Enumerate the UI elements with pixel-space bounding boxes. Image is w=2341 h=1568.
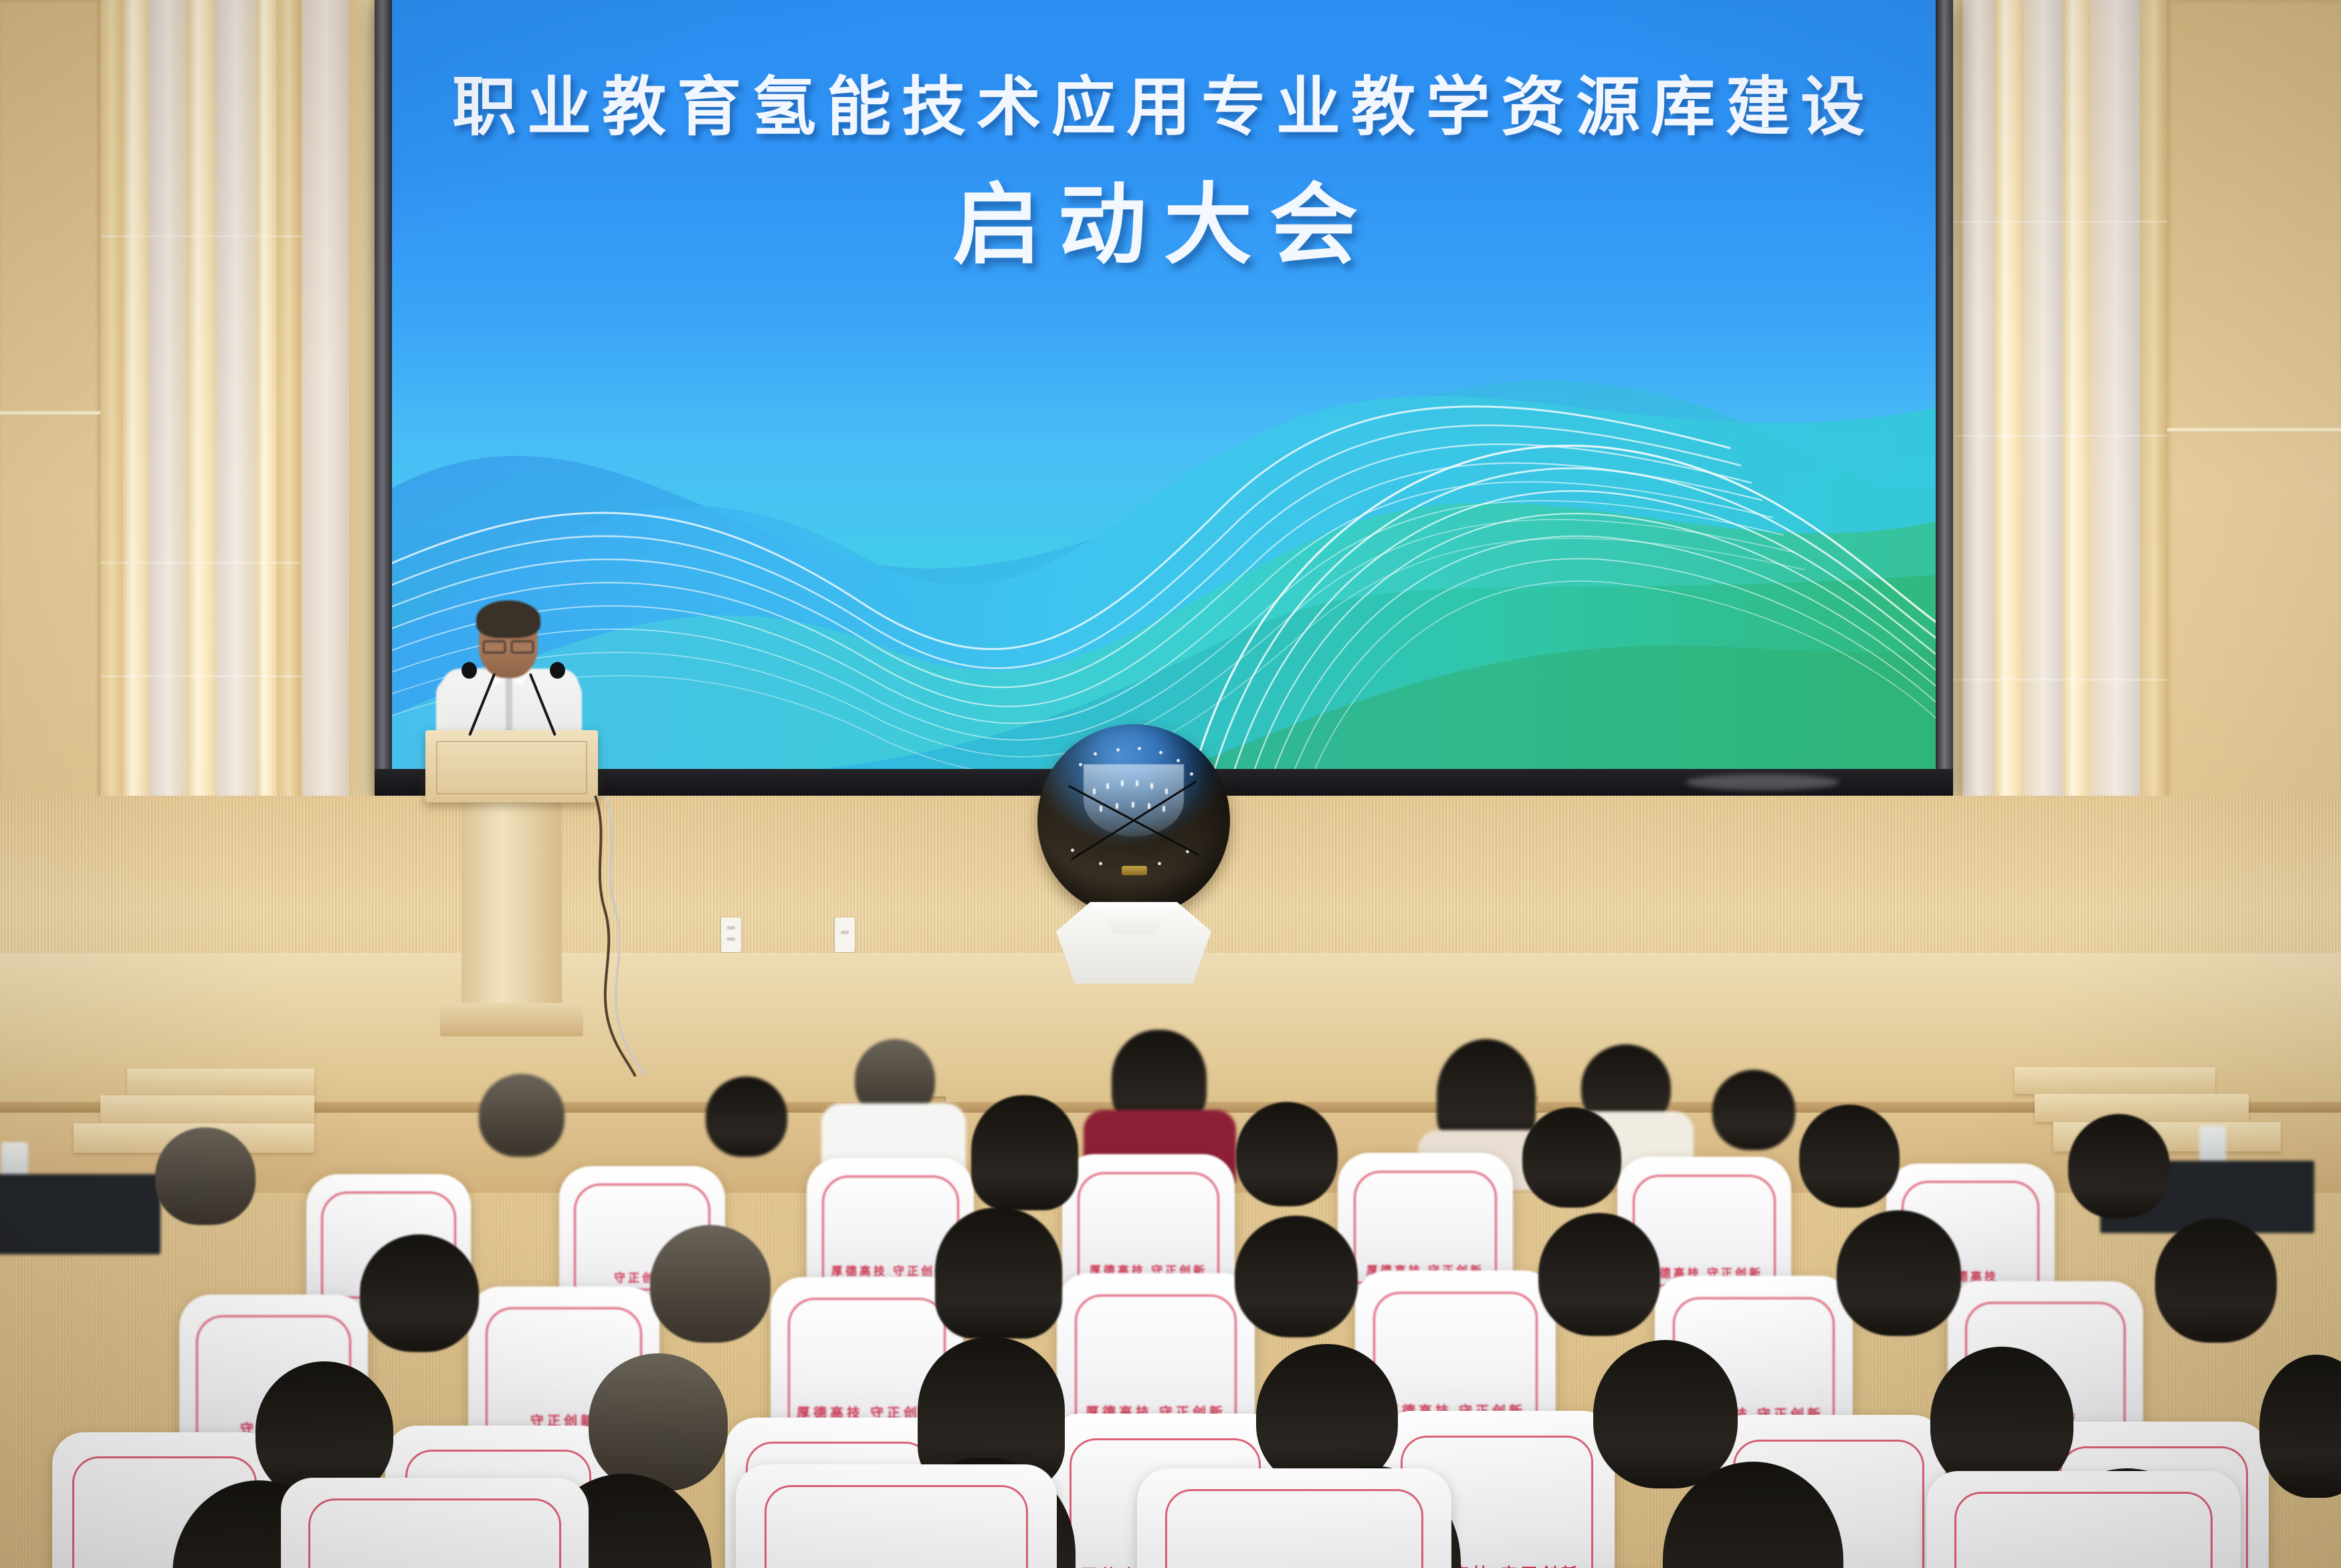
- attendee-head: [971, 1095, 1078, 1210]
- attendee-head: [2068, 1114, 2170, 1218]
- attendee-head: [1538, 1213, 1660, 1336]
- wave-graphic: [392, 288, 1936, 769]
- speaker-glasses: [483, 641, 534, 651]
- seat-foreground: [281, 1478, 589, 1568]
- seat-foreground: [736, 1464, 1057, 1568]
- seat-foreground: [1926, 1471, 2241, 1568]
- attendee-head: [1236, 1102, 1338, 1206]
- podium-desk: [425, 730, 598, 802]
- seat: 厚德高技 守正创新: [1062, 1154, 1235, 1292]
- screen-title: 职业教育氢能技术应用专业教学资源库建设: [392, 55, 1936, 148]
- led-screen: 职业教育氢能技术应用专业教学资源库建设 启动大会: [392, 0, 1936, 769]
- side-desk: [0, 1174, 161, 1254]
- attendee-head: [589, 1353, 728, 1491]
- attendee-head: [1235, 1216, 1358, 1337]
- power-outlet-2: [835, 917, 855, 952]
- microphone-left-head: [462, 662, 477, 679]
- attendee-head: [1799, 1105, 1900, 1208]
- speaker-hair: [476, 600, 540, 638]
- mirror-sphere-sculpture: [1032, 724, 1233, 992]
- attendee-head: [935, 1208, 1062, 1339]
- attendee-head: [155, 1127, 256, 1225]
- sphere-reflected-gold-object: [1122, 866, 1147, 875]
- attendee-head: [1837, 1210, 1961, 1336]
- power-outlet-1: [721, 917, 741, 952]
- attendee-head: [360, 1234, 479, 1352]
- attendee-head: [650, 1225, 771, 1343]
- screen-bezel-right: [1936, 0, 1953, 799]
- attendee-head: [479, 1074, 565, 1157]
- attendee-head: [1593, 1340, 1738, 1488]
- attendee-head: [1522, 1107, 1621, 1208]
- seat-foreground: [1137, 1468, 1451, 1568]
- led-screen-frame: 职业教育氢能技术应用专业教学资源库建设 启动大会: [375, 0, 1953, 799]
- attendee-head: [2155, 1218, 2277, 1343]
- attendee-head: [2259, 1355, 2341, 1498]
- attendee-head: [1712, 1070, 1795, 1150]
- mirror-sphere: [1037, 724, 1230, 917]
- screen-subtitle: 启动大会: [392, 154, 1936, 282]
- screen-bezel-left: [375, 0, 392, 799]
- conference-hall-photo: 职业教育氢能技术应用专业教学资源库建设 启动大会: [0, 0, 2341, 1568]
- attendee-head: [706, 1077, 787, 1157]
- microphone-right-head: [550, 662, 565, 679]
- drink-cup: [2199, 1126, 2226, 1165]
- sculpture-pedestal: [1056, 902, 1211, 984]
